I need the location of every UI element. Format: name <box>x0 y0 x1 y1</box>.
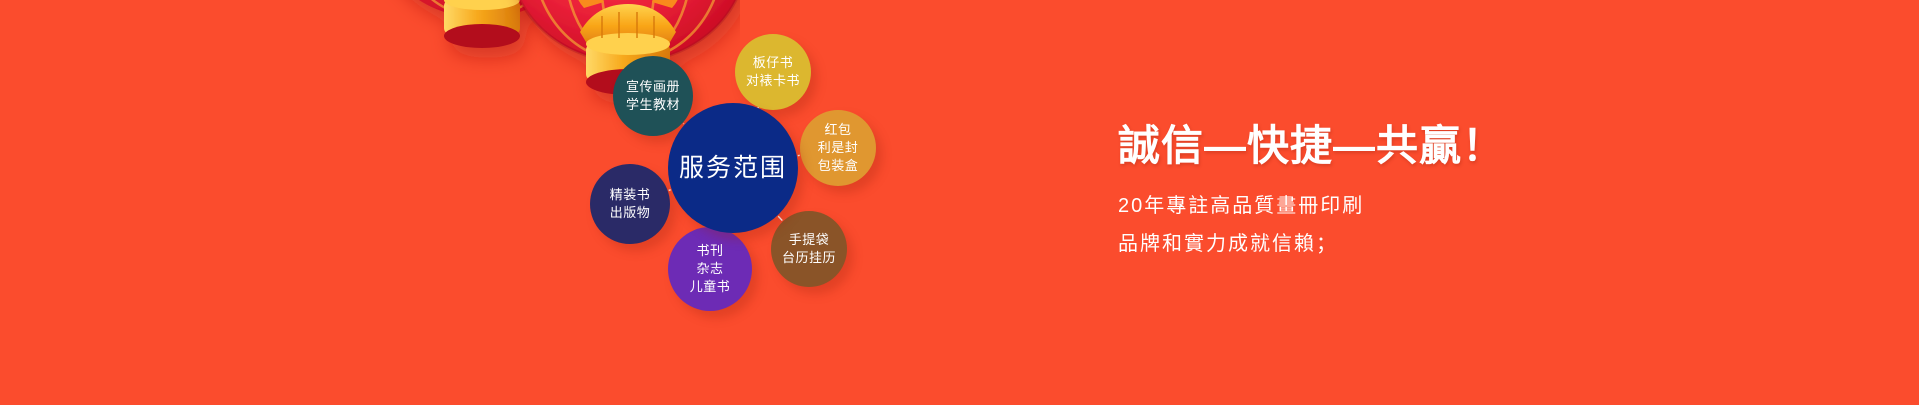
promo-banner: 宣传画册学生教材板仔书对裱卡书红包利是封包装盒手提袋台历挂历书刊杂志儿童书精装书… <box>0 0 1919 405</box>
bubble-hardcover-publication[interactable]: 精装书出版物 <box>590 164 670 244</box>
promo-subline-1: 20年專註高品質畫冊印刷 <box>1118 189 1738 218</box>
promo-subline-2: 品牌和實力成就信賴； <box>1118 227 1738 256</box>
center-bubble-label: 服务范围 <box>679 151 787 186</box>
bubble-label-line: 儿童书 <box>690 278 731 296</box>
bubble-board-book[interactable]: 板仔书对裱卡书 <box>735 34 811 110</box>
bubble-label-line: 学生教材 <box>626 96 680 114</box>
connector-line <box>669 190 671 191</box>
bubble-red-envelope[interactable]: 红包利是封包装盒 <box>800 110 876 186</box>
bubble-brochure-textbook[interactable]: 宣传画册学生教材 <box>613 56 693 136</box>
promo-headline: 誠信—快捷—共贏！ <box>1118 112 1738 173</box>
bubble-label-line: 利是封 <box>818 139 859 157</box>
promo-copy: 誠信—快捷—共贏！ 20年專註高品質畫冊印刷 品牌和實力成就信賴； <box>1118 112 1738 265</box>
bubble-service-scope-center[interactable]: 服务范围 <box>668 103 798 233</box>
bubble-journal-magazine[interactable]: 书刊杂志儿童书 <box>668 227 752 311</box>
bubble-label-line: 台历挂历 <box>782 249 836 267</box>
bubble-label-line: 精装书 <box>610 186 651 204</box>
bubble-label-line: 板仔书 <box>753 54 794 72</box>
bubble-label-line: 手提袋 <box>789 231 830 249</box>
bubble-label-line: 对裱卡书 <box>746 72 800 90</box>
bubble-label-line: 杂志 <box>696 260 723 278</box>
bubble-label-line: 包装盒 <box>818 157 859 175</box>
connector-line <box>778 216 782 220</box>
bubble-label-line: 出版物 <box>610 204 651 222</box>
bubble-handbag-calendar[interactable]: 手提袋台历挂历 <box>771 211 847 287</box>
lantern-left <box>380 0 590 48</box>
bubble-label-line: 书刊 <box>696 242 723 260</box>
bubble-label-line: 红包 <box>824 121 851 139</box>
bubble-label-line: 宣传画册 <box>626 78 680 96</box>
